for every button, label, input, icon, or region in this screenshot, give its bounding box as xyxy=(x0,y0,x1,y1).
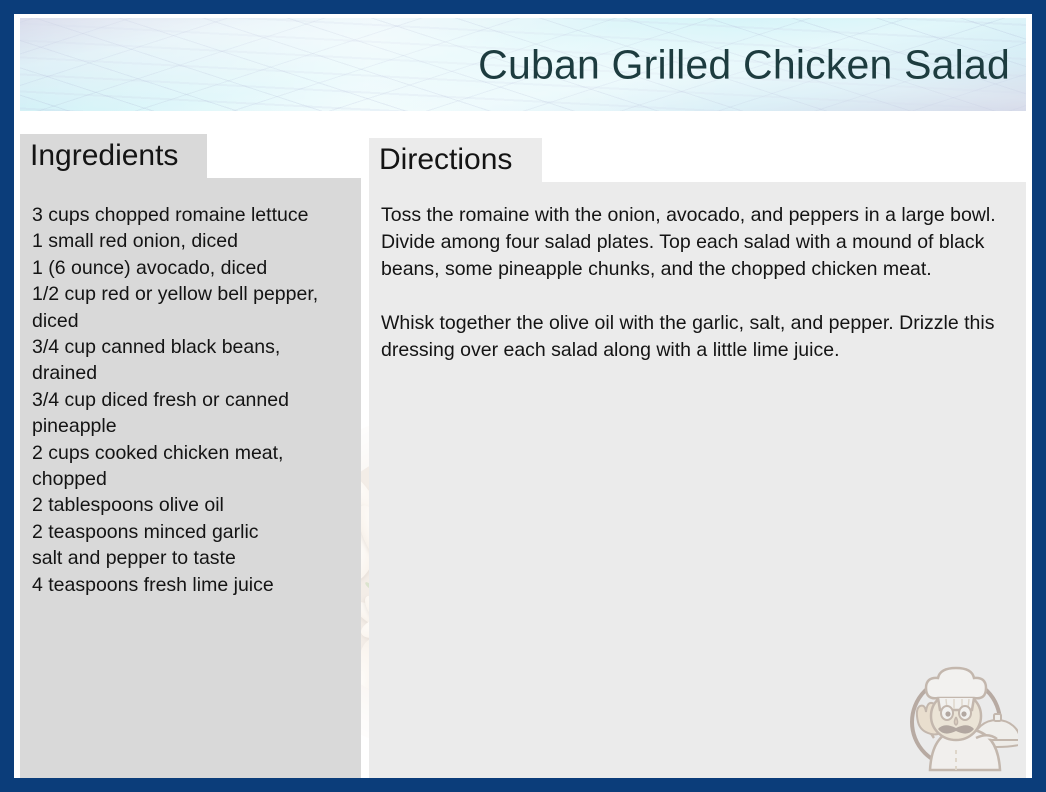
directions-text: Toss the romaine with the onion, avocado… xyxy=(369,182,1026,364)
directions-panel: Toss the romaine with the onion, avocado… xyxy=(369,182,1026,790)
tab-ingredients[interactable]: Ingredients xyxy=(20,134,207,178)
ingredient-line: 3/4 cup canned black beans, xyxy=(32,334,353,360)
ingredient-line: 3 cups chopped romaine lettuce xyxy=(32,202,353,228)
ingredient-line: 1 (6 ounce) avocado, diced xyxy=(32,255,353,281)
page-title: Cuban Grilled Chicken Salad xyxy=(478,43,1010,86)
ingredient-line: 2 cups cooked chicken meat, xyxy=(32,440,353,466)
ingredient-line: 2 tablespoons olive oil xyxy=(32,492,353,518)
recipe-card: Cuban Grilled Chicken Salad Ingredients … xyxy=(0,0,1046,792)
ingredient-line: 1/2 cup red or yellow bell pepper, xyxy=(32,281,353,307)
ingredient-line: pineapple xyxy=(32,413,353,439)
tab-directions[interactable]: Directions xyxy=(369,138,542,182)
ingredient-line: salt and pepper to taste xyxy=(32,545,353,571)
title-banner: Cuban Grilled Chicken Salad xyxy=(20,18,1026,111)
ingredient-line: drained xyxy=(32,360,353,386)
direction-paragraph: Whisk together the olive oil with the ga… xyxy=(381,310,1012,364)
ingredients-panel: 3 cups chopped romaine lettuce1 small re… xyxy=(20,178,361,790)
ingredients-list: 3 cups chopped romaine lettuce1 small re… xyxy=(20,178,361,598)
ingredient-line: chopped xyxy=(32,466,353,492)
ingredient-line: 3/4 cup diced fresh or canned xyxy=(32,387,353,413)
direction-paragraph: Toss the romaine with the onion, avocado… xyxy=(381,202,1012,283)
ingredient-line: 4 teaspoons fresh lime juice xyxy=(32,572,353,598)
recipe-card-inner: Cuban Grilled Chicken Salad Ingredients … xyxy=(14,14,1032,778)
ingredient-line: 2 teaspoons minced garlic xyxy=(32,519,353,545)
ingredient-line: 1 small red onion, diced xyxy=(32,228,353,254)
ingredient-line: diced xyxy=(32,308,353,334)
